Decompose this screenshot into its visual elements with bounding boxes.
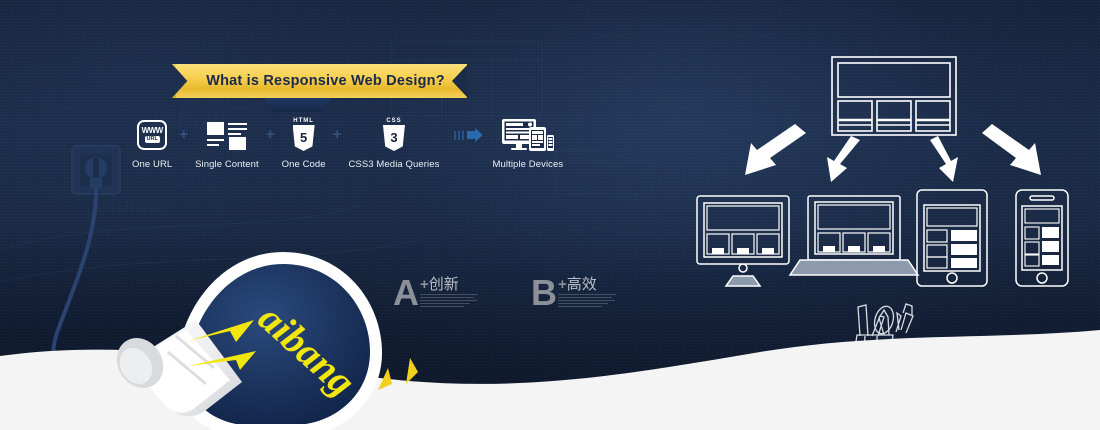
light-sparks: [378, 358, 418, 390]
responsive-web-design-banner: aibang aibang design: [0, 0, 1100, 430]
lightbulb-logo: aibang: [0, 0, 1100, 430]
